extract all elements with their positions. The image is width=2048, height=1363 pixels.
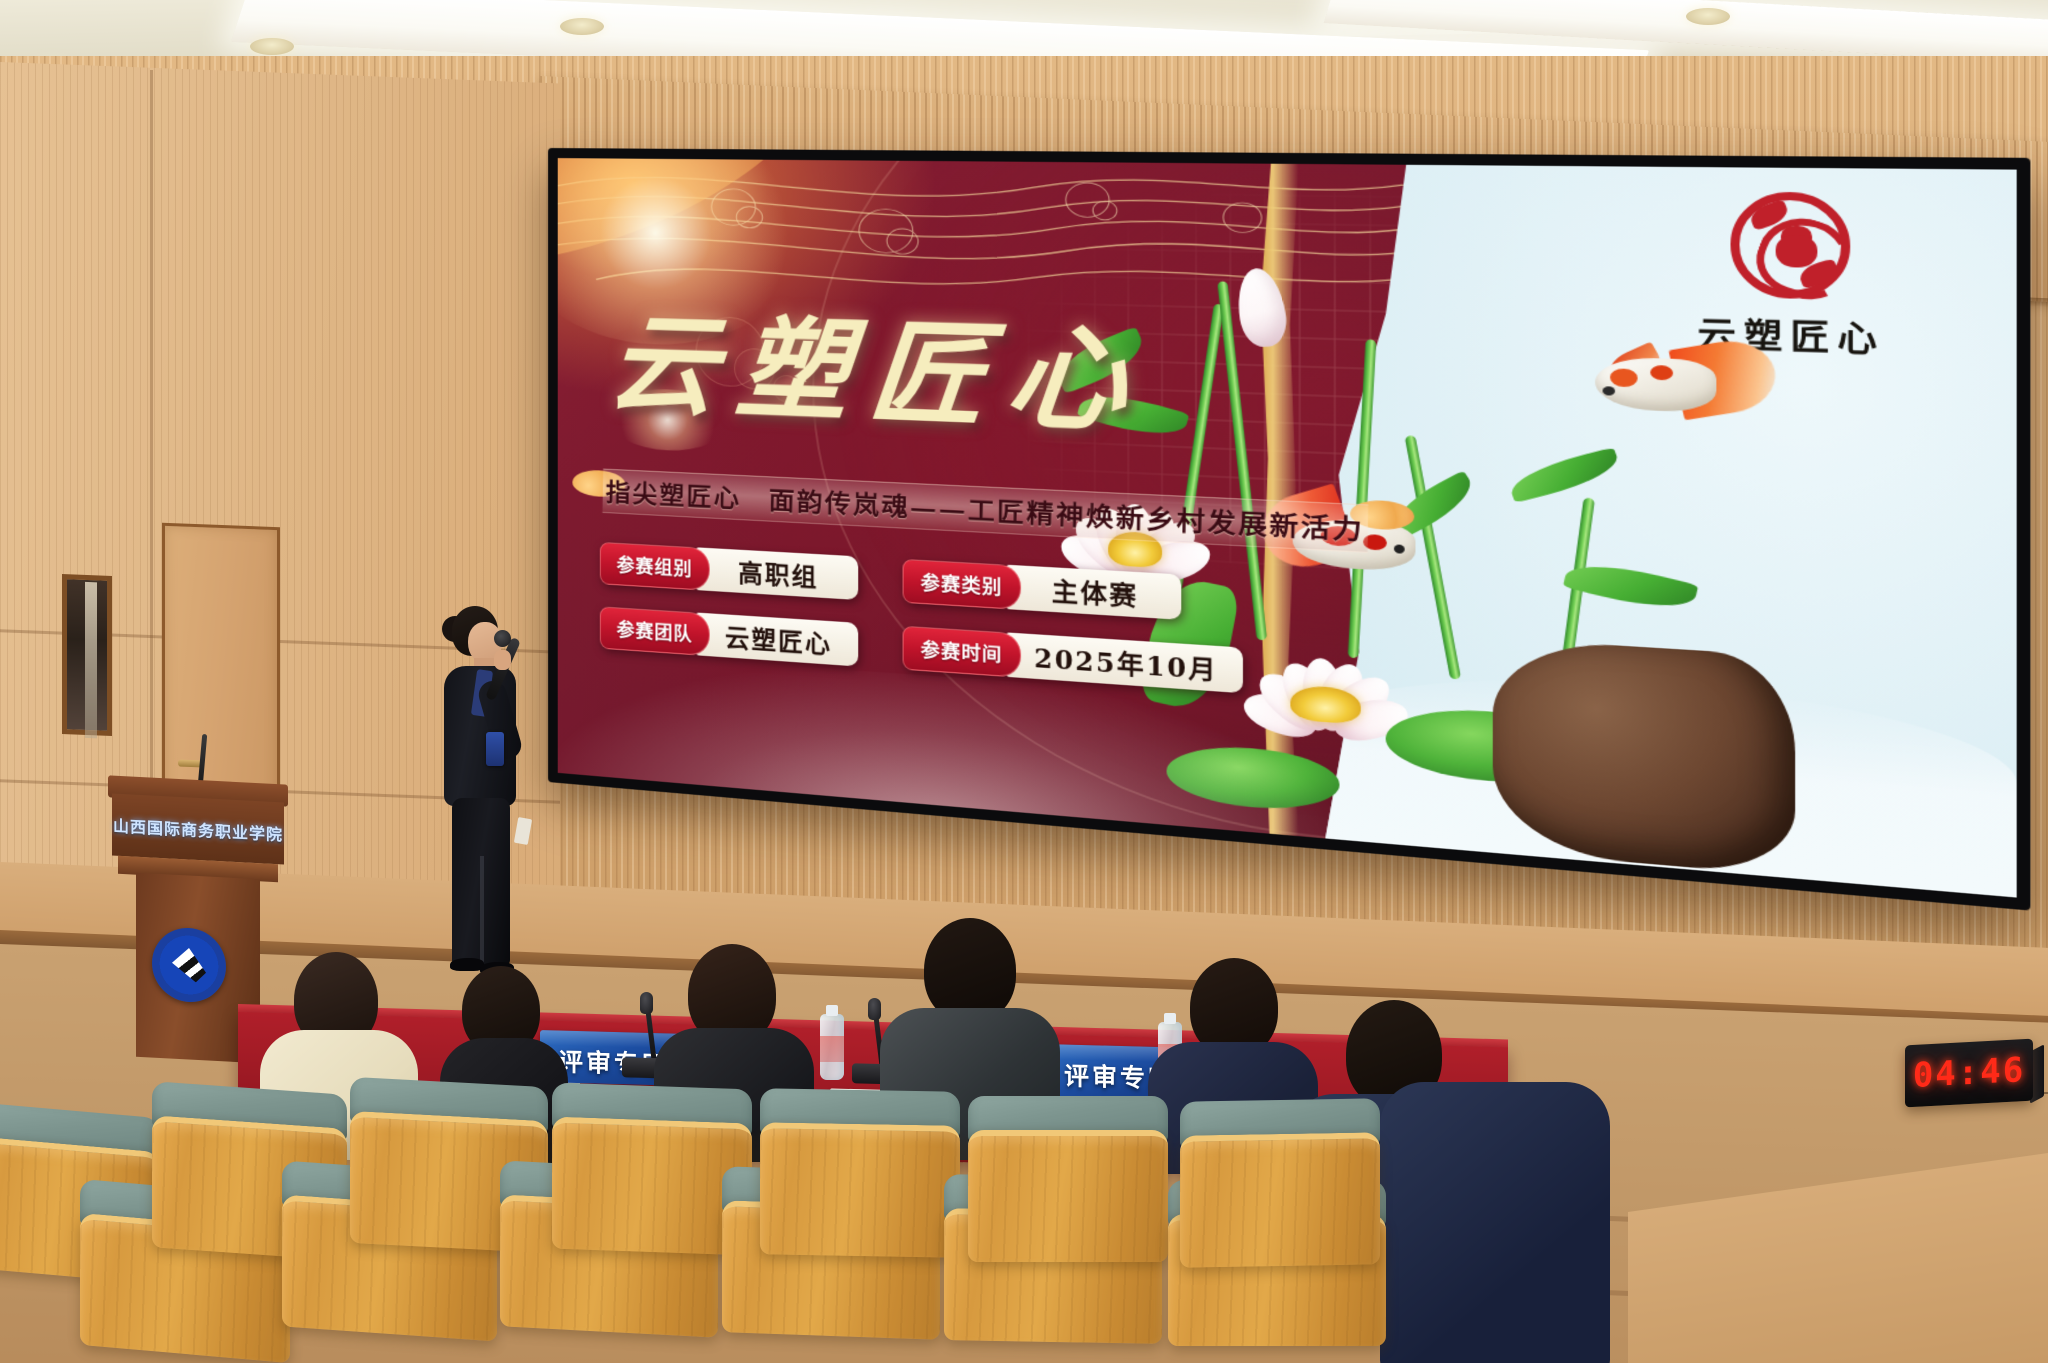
microphone-head-icon xyxy=(494,630,511,647)
chip-value: 云塑匠心 xyxy=(696,612,859,666)
slide-surface: 云塑匠心 xyxy=(558,158,2017,897)
chip-value: 高职组 xyxy=(696,547,859,600)
timer-body: 04:46 xyxy=(1905,1039,2033,1108)
led-display-screen: 云塑匠心 xyxy=(548,148,2030,911)
slide-title: 云塑匠心 xyxy=(603,276,1157,456)
presenter xyxy=(424,606,544,970)
downlight-icon xyxy=(1686,8,1730,25)
countdown-timer[interactable]: 04:46 xyxy=(1905,1042,2033,1104)
chip-key: 参赛时间 xyxy=(903,625,1021,677)
presenter-hand xyxy=(494,650,511,670)
wall-seam xyxy=(150,70,153,860)
info-chip-group-category: 参赛组别 高职组 xyxy=(600,542,858,600)
auditorium-seat[interactable] xyxy=(760,1088,960,1279)
side-door[interactable] xyxy=(162,523,280,816)
downlight-icon xyxy=(250,38,294,55)
lectern-nameboard: 山西国际商务职业学院 xyxy=(112,793,284,864)
chip-key: 参赛类别 xyxy=(903,559,1021,610)
table-microphone-head-icon xyxy=(640,992,653,1014)
audience-person xyxy=(1380,1082,1610,1363)
auditorium-scene: 云塑匠心 xyxy=(0,0,2048,1363)
auditorium-seat[interactable] xyxy=(968,1096,1168,1284)
timer-display: 04:46 xyxy=(1913,1050,2025,1096)
auditorium-seat[interactable] xyxy=(1180,1098,1380,1289)
root-stone-base xyxy=(1492,638,1794,876)
info-chip-date: 参赛时间 2025年10月 xyxy=(903,625,1244,693)
presenter-note-card xyxy=(514,817,532,845)
chip-value: 2025年10月 xyxy=(1006,632,1243,693)
door-window xyxy=(62,574,112,736)
info-chip-team: 参赛团队 云塑匠心 xyxy=(600,606,858,666)
lotus-leaf xyxy=(1506,448,1624,504)
chip-key: 参赛团队 xyxy=(600,606,710,656)
water-bottle xyxy=(820,1014,844,1080)
downlight-icon xyxy=(560,18,604,35)
institution-name: 山西国际商务职业学院 xyxy=(113,813,283,846)
chip-key: 参赛组别 xyxy=(600,542,710,591)
seal-flourish xyxy=(1747,200,1792,232)
presenter-leg-seam xyxy=(480,856,484,964)
lotus-bud xyxy=(1233,266,1290,349)
chip-value: 主体赛 xyxy=(1006,564,1182,619)
presenter-lanyard-badge xyxy=(486,732,504,766)
